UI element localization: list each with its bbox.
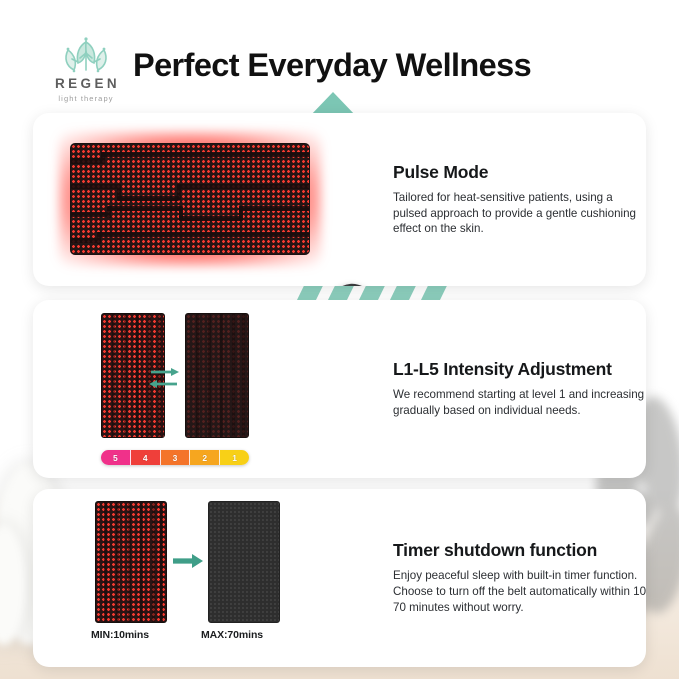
feature-card-intensity: 5 4 3 2 1 P5 30 ⏻ L1-L5 Intensity Adjust… — [33, 300, 646, 478]
pulse-led-panel — [59, 132, 321, 266]
page-header: REGEN light therapy Perfect Everyday Wel… — [0, 0, 679, 112]
card-body: Enjoy peaceful sleep with built-in timer… — [393, 568, 646, 615]
brand-logo: REGEN light therapy — [38, 28, 134, 103]
leaf-plant-icon — [38, 28, 134, 74]
brand-tagline: light therapy — [38, 94, 134, 103]
level-segment-2[interactable]: 2 — [190, 450, 220, 465]
arrow-right-icon — [173, 551, 203, 571]
level-segment-1[interactable]: 1 — [220, 450, 249, 465]
led-panel-off — [208, 501, 280, 623]
double-arrow-icon — [149, 368, 179, 390]
led-panel-on — [95, 501, 167, 623]
card-body: We recommend starting at level 1 and inc… — [393, 387, 646, 419]
remote-controller-card1[interactable]: P5 30 ⏻ — [312, 278, 380, 286]
card-title: L1-L5 Intensity Adjustment — [393, 359, 646, 380]
card-text-block: L1-L5 Intensity Adjustment We recommend … — [393, 300, 646, 478]
timer-min-label: MIN:10mins — [91, 629, 149, 641]
page-title: Perfect Everyday Wellness — [133, 47, 531, 84]
led-panel-low-intensity — [185, 313, 249, 438]
card-text-block: Timer shutdown function Enjoy peaceful s… — [393, 489, 646, 667]
level-segment-4[interactable]: 4 — [131, 450, 161, 465]
timer-max-label: MAX:70mins — [201, 629, 263, 641]
level-segment-5[interactable]: 5 — [101, 450, 131, 465]
feature-card-pulse-mode: P5 30 ⏻ Pulse Mode Tailored for heat-sen… — [33, 113, 646, 286]
level-segment-3[interactable]: 3 — [161, 450, 191, 465]
card-title: Timer shutdown function — [393, 540, 646, 561]
card-text-block: Pulse Mode Tailored for heat-sensitive p… — [393, 113, 646, 286]
led-grid-horizontal — [70, 143, 310, 255]
feature-card-timer: MIN:10mins MAX:70mins P5 30 ⏻ Timer shut… — [33, 489, 646, 667]
card-body: Tailored for heat-sensitive patients, us… — [393, 190, 646, 237]
intensity-level-bar[interactable]: 5 4 3 2 1 — [101, 450, 249, 465]
brand-name: REGEN — [38, 76, 134, 91]
card-title: Pulse Mode — [393, 162, 646, 183]
